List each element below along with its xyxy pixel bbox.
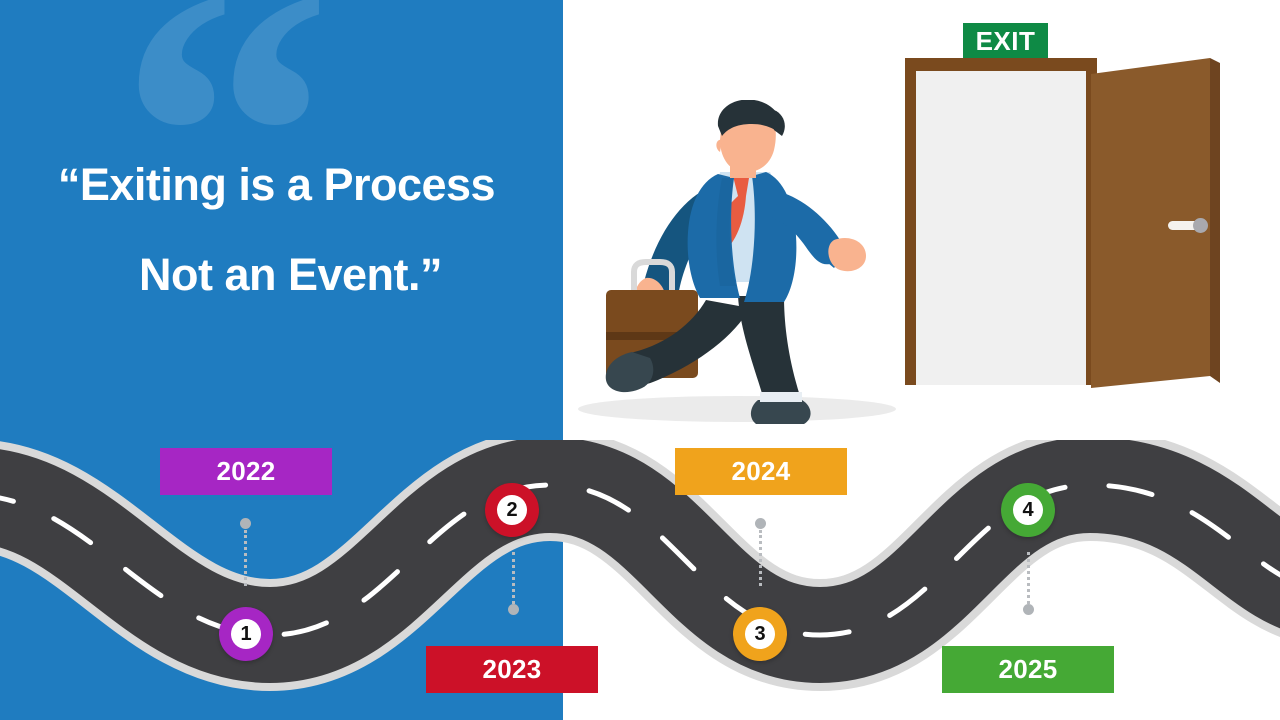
connector-line-2 [512, 552, 518, 604]
year-label-2024[interactable]: 2024 [675, 448, 847, 495]
exit-sign-label: EXIT [976, 28, 1036, 54]
exit-door-illustration [905, 58, 1220, 388]
year-label-2022[interactable]: 2022 [160, 448, 332, 495]
milestone-marker-3[interactable]: 3 [733, 607, 787, 661]
milestone-number-3: 3 [745, 619, 775, 649]
milestone-marker-4[interactable]: 4 [1001, 483, 1055, 537]
year-label-2023-text: 2023 [482, 654, 541, 685]
door-knob-icon [1193, 218, 1208, 233]
year-label-2024-text: 2024 [731, 456, 790, 487]
milestone-marker-1[interactable]: 1 [219, 607, 273, 661]
connector-dot-4 [1023, 604, 1034, 615]
connector-dot-1 [240, 518, 251, 529]
connector-line-4 [1027, 552, 1033, 604]
quote-line-1: “Exiting is a Process [0, 140, 563, 230]
slide-canvas: “ “Exiting is a Process Not an Event.” E… [0, 0, 1280, 720]
connector-dot-2 [508, 604, 519, 615]
quote-line-2: Not an Event.” [0, 230, 563, 320]
milestone-number-4: 4 [1013, 495, 1043, 525]
milestone-marker-2[interactable]: 2 [485, 483, 539, 537]
running-businessman-illustration [588, 100, 878, 430]
milestone-number-1: 1 [231, 619, 261, 649]
year-label-2025[interactable]: 2025 [942, 646, 1114, 693]
year-label-2023[interactable]: 2023 [426, 646, 598, 693]
year-label-2025-text: 2025 [998, 654, 1057, 685]
year-label-2022-text: 2022 [216, 456, 275, 487]
exit-sign: EXIT [963, 23, 1048, 59]
connector-line-3 [759, 530, 765, 586]
connector-dot-3 [755, 518, 766, 529]
milestone-number-2: 2 [497, 495, 527, 525]
quote-text: “Exiting is a Process Not an Event.” [0, 140, 563, 320]
connector-line-1 [244, 530, 250, 586]
